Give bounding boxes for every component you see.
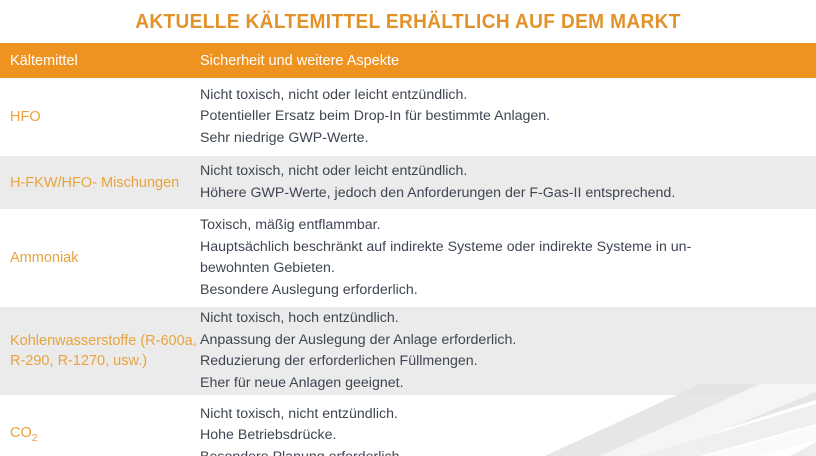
table-row: CO2 Nicht toxisch, nicht entzündlich. Ho… <box>0 400 816 456</box>
name-line: Kohlenwasserstoffe <box>10 333 136 349</box>
column-header-refrigerant: Kältemittel <box>0 52 200 70</box>
column-header-safety: Sicherheit und weitere Aspekte <box>200 52 816 70</box>
table-row: Kohlenwasserstoffe (R-600a, R-290, R-127… <box>0 307 816 395</box>
slide-root: AKTUELLE KÄLTEMITTEL ERHÄLTLICH AUF DEM … <box>0 0 816 456</box>
desc-line: Toxisch, mäßig entflammbar. <box>200 215 804 237</box>
desc-line: Hohe Betriebsdrücke. <box>200 425 804 447</box>
cell-safety-aspects: Toxisch, mäßig entflammbar. Hauptsächlic… <box>200 215 816 301</box>
name-line: Ammoniak <box>10 250 79 266</box>
table-row: HFO Nicht toxisch, nicht oder leicht ent… <box>0 83 816 151</box>
desc-line: bewohnten Gebieten. <box>200 258 804 280</box>
refrigerant-table: Kältemittel Sicherheit und weitere Aspek… <box>0 43 816 456</box>
desc-line: Nicht toxisch, hoch entzündlich. <box>200 308 804 330</box>
desc-line: Besondere Planung erforderlich. <box>200 447 804 456</box>
desc-line: Nicht toxisch, nicht oder leicht entzünd… <box>200 161 804 183</box>
name-line: Mischungen <box>101 175 179 191</box>
cell-refrigerant-name: Kohlenwasserstoffe (R-600a, R-290, R-127… <box>0 331 200 371</box>
desc-line: Reduzierung der erforderlichen Füllmenge… <box>200 351 804 373</box>
cell-refrigerant-name: CO2 <box>0 423 200 449</box>
name-base: CO <box>10 425 32 441</box>
cell-refrigerant-name: HFO <box>0 107 200 127</box>
desc-line: Nicht toxisch, nicht oder leicht entzünd… <box>200 85 804 107</box>
cell-refrigerant-name: H-FKW/HFO- Mischungen <box>0 173 200 193</box>
desc-line: Anpassung der Auslegung der Anlage erfor… <box>200 330 804 352</box>
desc-line: Höhere GWP-Werte, jedoch den Anforderung… <box>200 183 804 205</box>
cell-safety-aspects: Nicht toxisch, nicht oder leicht entzünd… <box>200 161 816 204</box>
cell-refrigerant-name: Ammoniak <box>0 248 200 268</box>
cell-safety-aspects: Nicht toxisch, nicht oder leicht entzünd… <box>200 85 816 150</box>
desc-line: Sehr niedrige GWP-Werte. <box>200 128 804 150</box>
table-row: H-FKW/HFO- Mischungen Nicht toxisch, nic… <box>0 156 816 209</box>
page-title: AKTUELLE KÄLTEMITTEL ERHÄLTLICH AUF DEM … <box>29 10 788 34</box>
desc-line: Eher für neue Anlagen geeignet. <box>200 373 804 395</box>
desc-line: Besondere Auslegung erforderlich. <box>200 280 804 302</box>
name-line: H-FKW/HFO- <box>10 175 97 191</box>
desc-line: Potentieller Ersatz beim Drop-In für bes… <box>200 106 804 128</box>
cell-safety-aspects: Nicht toxisch, nicht entzündlich. Hohe B… <box>200 404 816 456</box>
table-header-row: Kältemittel Sicherheit und weitere Aspek… <box>0 43 816 78</box>
name-line: CO2 <box>10 425 38 441</box>
cell-safety-aspects: Nicht toxisch, hoch entzündlich. Anpassu… <box>200 308 816 394</box>
name-subscript: 2 <box>32 433 38 444</box>
table-row: Ammoniak Toxisch, mäßig entflammbar. Hau… <box>0 214 816 302</box>
desc-line: Hauptsächlich beschränkt auf indirekte S… <box>200 237 804 259</box>
desc-line: Nicht toxisch, nicht entzündlich. <box>200 404 804 426</box>
name-line: HFO <box>10 109 41 125</box>
name-line: R-1270, usw.) <box>58 353 147 369</box>
